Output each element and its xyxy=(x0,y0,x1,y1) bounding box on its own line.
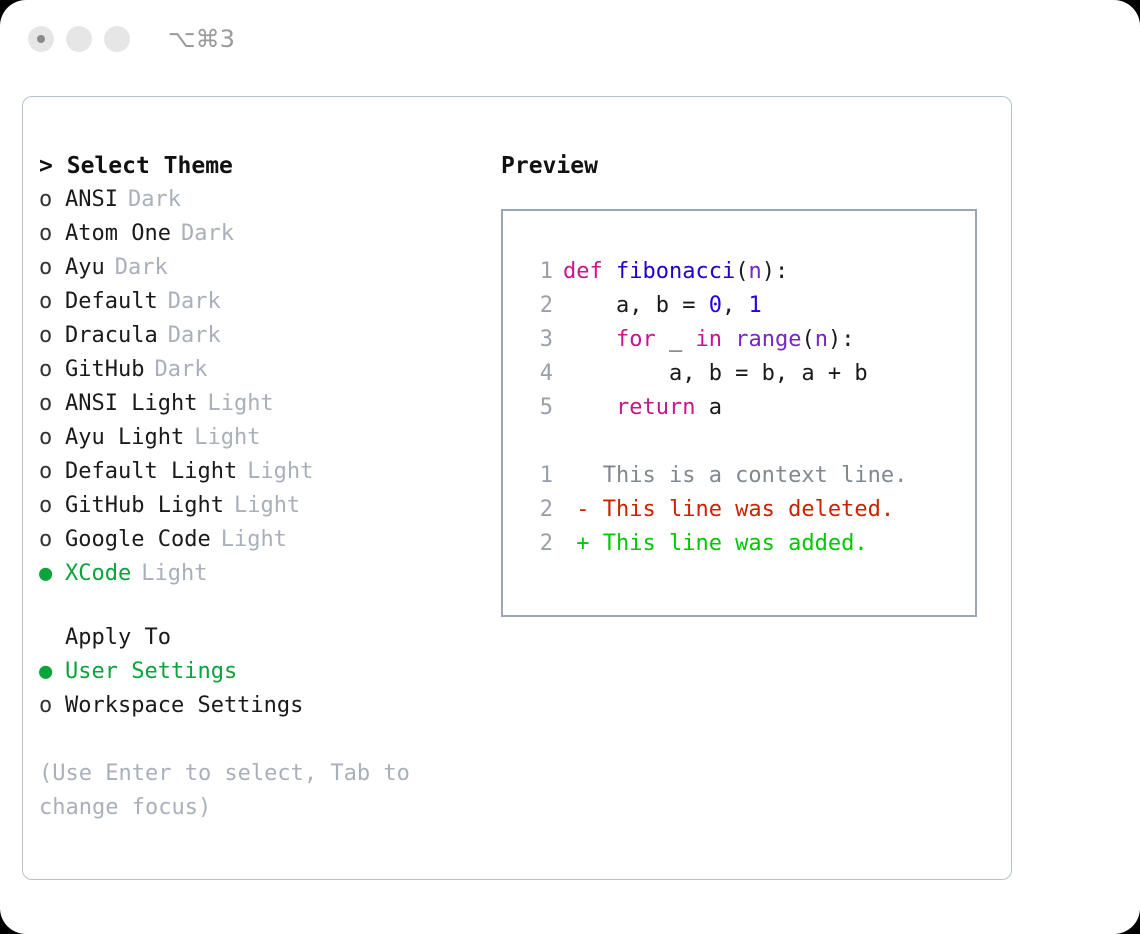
radio-unselected-icon: o xyxy=(39,217,65,251)
theme-option-ansi-light[interactable]: oANSI LightLight xyxy=(39,387,479,421)
code-token-var: n xyxy=(815,327,828,352)
code-token-plain: ): xyxy=(762,259,789,284)
theme-name: ANSI xyxy=(65,183,118,217)
theme-name: Atom One xyxy=(65,217,171,251)
apply-to-option-user-settings[interactable]: ●User Settings xyxy=(39,655,479,689)
theme-option-ayu[interactable]: oAyuDark xyxy=(39,251,479,285)
code-text: return a xyxy=(563,391,722,425)
app-window: ⌥⌘3 > Select Theme oANSIDarkoAtom OneDar… xyxy=(0,0,1140,934)
radio-unselected-icon: o xyxy=(39,489,65,523)
radio-unselected-icon: o xyxy=(39,285,65,319)
theme-name: ANSI Light xyxy=(65,387,197,421)
hint-spacer xyxy=(39,723,479,757)
code-token-call: range xyxy=(735,327,801,352)
line-number: 1 xyxy=(519,255,553,289)
code-line: 2 a, b = 0, 1 xyxy=(519,289,975,323)
theme-name: Default xyxy=(65,285,158,319)
main-panel: > Select Theme oANSIDarkoAtom OneDarkoAy… xyxy=(22,96,1012,880)
radio-unselected-icon: o xyxy=(39,455,65,489)
radio-unselected-icon: o xyxy=(39,689,65,723)
apply-to-heading: Apply To xyxy=(39,621,479,655)
theme-variant-badge: Dark xyxy=(168,319,221,353)
code-token-plain: a, b = b, a + b xyxy=(563,361,868,386)
diff-line-ctx: 1 This is a context line. xyxy=(519,459,975,493)
code-token-plain: ( xyxy=(801,327,814,352)
code-line: 5 return a xyxy=(519,391,975,425)
theme-name: GitHub Light xyxy=(65,489,224,523)
theme-variant-badge: Light xyxy=(141,557,207,591)
code-token-plain: _ xyxy=(656,327,696,352)
keyboard-hint: (Use Enter to select, Tab to change focu… xyxy=(39,757,439,825)
apply-to-option-workspace-settings[interactable]: oWorkspace Settings xyxy=(39,689,479,723)
code-line: 4 a, b = b, a + b xyxy=(519,357,975,391)
code-token-kw: in xyxy=(695,327,722,352)
code-token-num: 1 xyxy=(748,293,761,318)
keyboard-shortcut-label: ⌥⌘3 xyxy=(168,25,235,53)
theme-option-default[interactable]: oDefaultDark xyxy=(39,285,479,319)
code-token-plain: ( xyxy=(735,259,748,284)
line-number: 2 xyxy=(519,289,553,323)
code-text: a, b = b, a + b xyxy=(563,357,868,391)
theme-variant-badge: Dark xyxy=(128,183,181,217)
radio-selected-icon: ● xyxy=(39,557,65,591)
apply-to-label: User Settings xyxy=(65,655,237,689)
theme-option-github-light[interactable]: oGitHub LightLight xyxy=(39,489,479,523)
theme-name: Default Light xyxy=(65,455,237,489)
theme-variant-badge: Dark xyxy=(181,217,234,251)
title-bar: ⌥⌘3 xyxy=(0,0,1140,78)
theme-option-ansi[interactable]: oANSIDark xyxy=(39,183,479,217)
theme-name: Google Code xyxy=(65,523,211,557)
theme-name: Ayu xyxy=(65,251,105,285)
list-spacer xyxy=(39,591,479,621)
apply-to-list: ●User SettingsoWorkspace Settings xyxy=(39,655,479,723)
select-theme-heading: > Select Theme xyxy=(39,149,479,183)
diff-spacer xyxy=(519,425,975,459)
window-controls xyxy=(28,26,130,52)
code-token-plain xyxy=(563,395,616,420)
line-number: 2 xyxy=(519,527,553,561)
code-token-fn: fibonacci xyxy=(616,259,735,284)
theme-name: GitHub xyxy=(65,353,144,387)
theme-option-ayu-light[interactable]: oAyu LightLight xyxy=(39,421,479,455)
theme-variant-badge: Light xyxy=(194,421,260,455)
theme-option-xcode[interactable]: ●XCodeLight xyxy=(39,557,479,591)
minimize-button-icon[interactable] xyxy=(66,26,92,52)
code-text: for _ in range(n): xyxy=(563,323,854,357)
code-token-var: n xyxy=(748,259,761,284)
theme-name: XCode xyxy=(65,557,131,591)
select-theme-label: Select Theme xyxy=(67,153,233,179)
line-number: 5 xyxy=(519,391,553,425)
theme-variant-badge: Light xyxy=(247,455,313,489)
code-token-plain: , xyxy=(722,293,749,318)
close-dot xyxy=(37,35,45,43)
diff-sample: 1 This is a context line.2 - This line w… xyxy=(519,459,975,561)
code-text: a, b = 0, 1 xyxy=(563,289,762,323)
radio-unselected-icon: o xyxy=(39,251,65,285)
line-number: 1 xyxy=(519,459,553,493)
line-number: 3 xyxy=(519,323,553,357)
theme-option-default-light[interactable]: oDefault LightLight xyxy=(39,455,479,489)
maximize-button-icon[interactable] xyxy=(104,26,130,52)
theme-option-github[interactable]: oGitHubDark xyxy=(39,353,479,387)
diff-text: - This line was deleted. xyxy=(563,493,894,527)
preview-heading: Preview xyxy=(501,149,991,183)
line-number: 2 xyxy=(519,493,553,527)
code-token-plain: a xyxy=(695,395,722,420)
radio-unselected-icon: o xyxy=(39,183,65,217)
close-button-icon[interactable] xyxy=(28,26,54,52)
theme-option-google-code[interactable]: oGoogle CodeLight xyxy=(39,523,479,557)
theme-variant-badge: Light xyxy=(234,489,300,523)
diff-text: + This line was added. xyxy=(563,527,868,561)
diff-line-del: 2 - This line was deleted. xyxy=(519,493,975,527)
code-line: 1def fibonacci(n): xyxy=(519,255,975,289)
code-token-kw: return xyxy=(616,395,695,420)
theme-variant-badge: Light xyxy=(221,523,287,557)
radio-unselected-icon: o xyxy=(39,353,65,387)
radio-unselected-icon: o xyxy=(39,421,65,455)
radio-unselected-icon: o xyxy=(39,523,65,557)
theme-option-atom-one[interactable]: oAtom OneDark xyxy=(39,217,479,251)
theme-picker-column: > Select Theme oANSIDarkoAtom OneDarkoAy… xyxy=(39,149,479,825)
code-token-plain: a, b = xyxy=(563,293,709,318)
code-token-num: 0 xyxy=(709,293,722,318)
theme-variant-badge: Dark xyxy=(154,353,207,387)
code-text: def fibonacci(n): xyxy=(563,255,788,289)
code-line: 3 for _ in range(n): xyxy=(519,323,975,357)
theme-variant-badge: Light xyxy=(207,387,273,421)
apply-to-label: Workspace Settings xyxy=(65,689,303,723)
preview-box: 1def fibonacci(n):2 a, b = 0, 13 for _ i… xyxy=(501,209,977,617)
radio-selected-icon: ● xyxy=(39,655,65,689)
code-token-plain xyxy=(722,327,735,352)
theme-list: oANSIDarkoAtom OneDarkoAyuDarkoDefaultDa… xyxy=(39,183,479,591)
panel-columns: > Select Theme oANSIDarkoAtom OneDarkoAy… xyxy=(23,97,1011,879)
code-token-kw: for xyxy=(616,327,656,352)
theme-option-dracula[interactable]: oDraculaDark xyxy=(39,319,479,353)
theme-variant-badge: Dark xyxy=(115,251,168,285)
line-number: 4 xyxy=(519,357,553,391)
theme-variant-badge: Dark xyxy=(168,285,221,319)
theme-name: Ayu Light xyxy=(65,421,184,455)
prompt-caret: > xyxy=(39,153,53,179)
preview-column: Preview 1def fibonacci(n):2 a, b = 0, 13… xyxy=(501,149,991,617)
code-token-kw: def xyxy=(563,259,616,284)
code-token-plain xyxy=(563,327,616,352)
diff-text: This is a context line. xyxy=(563,459,907,493)
code-sample: 1def fibonacci(n):2 a, b = 0, 13 for _ i… xyxy=(519,255,975,425)
theme-name: Dracula xyxy=(65,319,158,353)
radio-unselected-icon: o xyxy=(39,319,65,353)
radio-unselected-icon: o xyxy=(39,387,65,421)
code-token-plain: ): xyxy=(828,327,855,352)
diff-line-add: 2 + This line was added. xyxy=(519,527,975,561)
